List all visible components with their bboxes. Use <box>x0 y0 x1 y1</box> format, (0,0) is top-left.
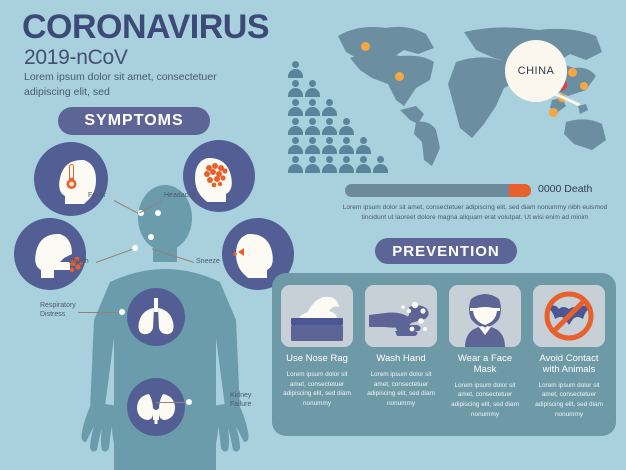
person-icon <box>322 156 337 174</box>
prevention-panel: Use Nose Rag Lorem ipsum dolor sit amet,… <box>272 273 616 436</box>
lungs-icon <box>127 288 185 346</box>
marker-dot-headache <box>155 210 161 216</box>
kidneys-icon <box>127 378 185 436</box>
person-icon <box>288 118 303 136</box>
prevention-tile <box>365 285 437 347</box>
page-subtitle: 2019-nCoV <box>24 46 128 70</box>
person-icon <box>288 80 303 98</box>
head-cough-icon <box>14 218 86 290</box>
prevention-card-face-mask[interactable]: Wear a Face Mask Lorem ipsum dolor sit a… <box>446 285 524 419</box>
header-description: Lorem ipsum dolor sit amet, consectetuer… <box>24 70 254 100</box>
symptom-icon-cough[interactable] <box>14 218 86 290</box>
person-icon <box>305 156 320 174</box>
prevention-card-wash-hand[interactable]: Wash Hand Lorem ipsum dolor sit amet, co… <box>362 285 440 408</box>
person-icon <box>288 156 303 174</box>
pictogram-row <box>288 136 398 155</box>
pictogram-row <box>288 79 398 98</box>
pictogram-row <box>288 60 398 79</box>
spread-dot-japan <box>580 82 588 90</box>
person-icon <box>305 99 320 117</box>
prevention-title: Wash Hand <box>362 354 440 365</box>
prevention-tile <box>281 285 353 347</box>
marker-dot-sneeze <box>148 234 154 240</box>
prevention-card-avoid-animals[interactable]: Avoid Contact with Animals Lorem ipsum d… <box>530 285 608 419</box>
infection-pictogram-chart <box>288 60 398 182</box>
prevention-desc: Lorem ipsum dolor sit amet, consectetuer… <box>362 370 440 408</box>
page-title: CORONAVIRUS <box>22 10 269 44</box>
washing-hands-icon <box>365 285 437 347</box>
prevention-tile <box>449 285 521 347</box>
prevention-card-nose-rag[interactable]: Use Nose Rag Lorem ipsum dolor sit amet,… <box>278 285 356 408</box>
symptom-icon-kidney[interactable] <box>127 378 185 436</box>
symptom-label-fever: Fever <box>88 192 106 199</box>
symptoms-heading: SYMPTOMS <box>58 107 210 135</box>
symptom-icon-respiratory[interactable] <box>127 288 185 346</box>
symptom-icon-fever[interactable] <box>34 142 108 216</box>
person-icon <box>339 118 354 136</box>
symptom-icon-headache[interactable] <box>183 140 255 212</box>
prevention-tile <box>533 285 605 347</box>
person-icon <box>356 137 371 155</box>
pictogram-row <box>288 155 398 174</box>
person-icon <box>339 137 354 155</box>
person-icon <box>305 80 320 98</box>
infographic-canvas: CORONAVIRUS 2019-nCoV Lorem ipsum dolor … <box>0 0 626 470</box>
person-icon <box>322 99 337 117</box>
spread-dot-sea <box>549 108 558 117</box>
prevention-desc: Lorem ipsum dolor sit amet, consectetuer… <box>446 381 524 419</box>
prevention-heading: PREVENTION <box>375 238 517 264</box>
death-count-label: 0000 Death <box>538 183 592 195</box>
death-progress-bar[interactable] <box>345 184 531 197</box>
no-bat-icon <box>533 285 605 347</box>
death-progress-fill <box>509 184 531 197</box>
china-callout-bubble[interactable]: CHINA <box>505 40 567 102</box>
pictogram-row <box>288 117 398 136</box>
prevention-title: Wear a Face Mask <box>446 354 524 376</box>
person-icon <box>322 137 337 155</box>
spread-dot-korea <box>568 68 577 77</box>
symptom-label-headache: Headache <box>164 192 196 199</box>
map-caption: Lorem ipsum dolor sit amet, consectetuer… <box>330 203 620 223</box>
person-icon <box>288 61 303 79</box>
face-mask-person-icon <box>449 285 521 347</box>
person-icon <box>373 156 388 174</box>
prevention-title: Avoid Contact with Animals <box>530 354 608 376</box>
marker-dot-kidney <box>186 399 192 405</box>
symptom-label-respiratory: RespiratoryDistress <box>40 302 76 320</box>
symptom-label-kidney: KidneyFailure <box>230 392 251 410</box>
marker-dot-cough <box>132 245 138 251</box>
symptom-label-cough: Cough <box>68 258 89 265</box>
tissue-box-icon <box>281 285 353 347</box>
person-icon <box>305 118 320 136</box>
pictogram-row <box>288 98 398 117</box>
prevention-desc: Lorem ipsum dolor sit amet, consectetuer… <box>278 370 356 408</box>
head-thermometer-icon <box>34 142 108 216</box>
head-brain-icon <box>183 140 255 212</box>
leader-line-respiratory <box>78 312 122 313</box>
spread-dot-alaska <box>361 42 370 51</box>
symptom-label-sneeze: Sneeze <box>196 258 220 265</box>
person-icon <box>339 156 354 174</box>
person-icon <box>305 137 320 155</box>
marker-dot-respiratory <box>119 309 125 315</box>
person-icon <box>288 137 303 155</box>
person-icon <box>288 99 303 117</box>
prevention-desc: Lorem ipsum dolor sit amet, consectetuer… <box>530 381 608 419</box>
prevention-title: Use Nose Rag <box>278 354 356 365</box>
person-icon <box>356 156 371 174</box>
person-icon <box>322 118 337 136</box>
